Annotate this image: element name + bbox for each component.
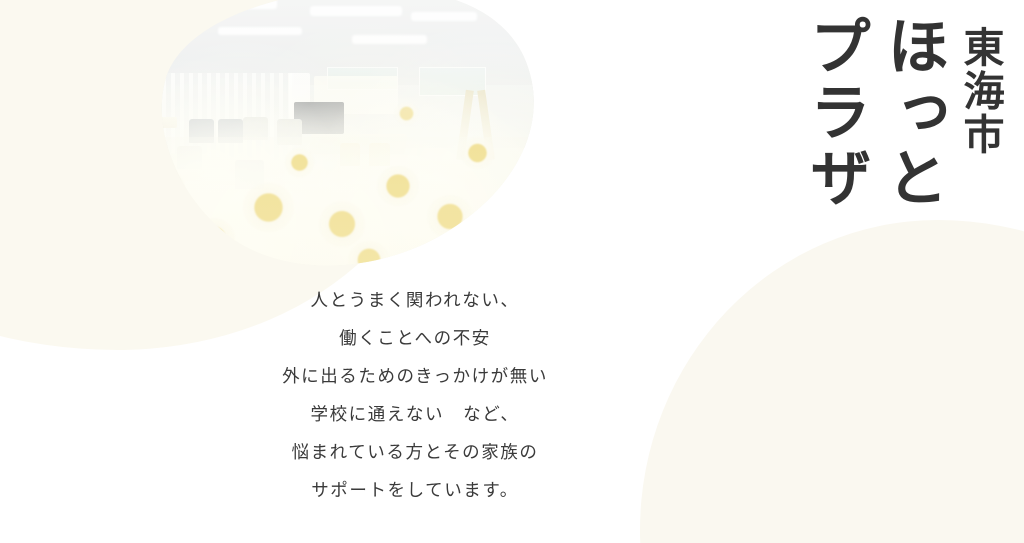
intro-line: サポートをしています。 xyxy=(0,472,830,510)
intro-line: 働くことへの不安 xyxy=(0,320,830,358)
flower-icon xyxy=(486,224,524,259)
title-column-puraza: プラザ xyxy=(804,14,867,211)
title-column-tokai: 東海市 xyxy=(958,14,1000,156)
site-title: プラザ ほっと 東海市 xyxy=(804,14,1000,211)
intro-line: 悩まれている方とその家族の xyxy=(0,434,830,472)
title-column-hotto: ほっと xyxy=(881,14,944,211)
landing-page: プラザ ほっと 東海市 人とうまく関われない、 働くことへの不安 外に出るための… xyxy=(0,0,1024,543)
intro-line: 人とうまく関われない、 xyxy=(0,282,830,320)
intro-copy: 人とうまく関われない、 働くことへの不安 外に出るためのきっかけが無い 学校に通… xyxy=(0,282,830,510)
intro-line: 外に出るためのきっかけが無い xyxy=(0,358,830,396)
intro-line: 学校に通えない など、 xyxy=(0,396,830,434)
